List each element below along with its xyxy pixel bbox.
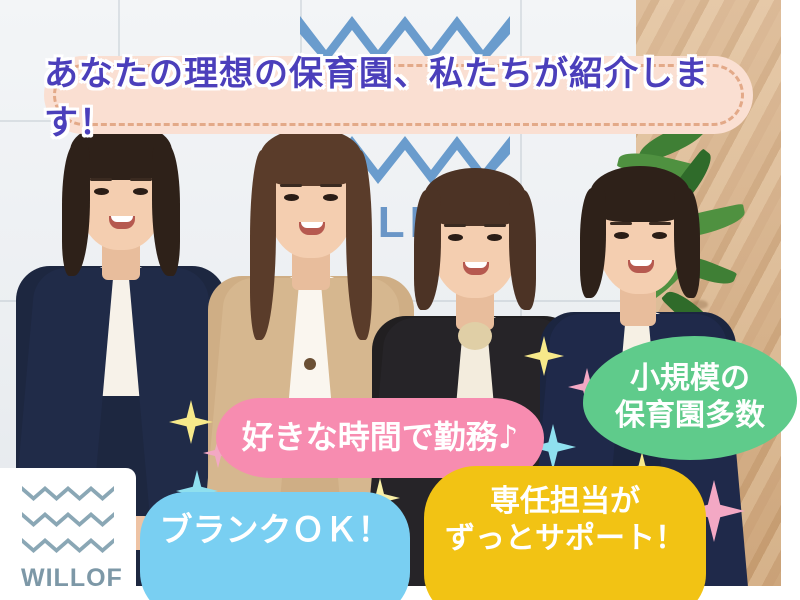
bubble-pink-line1: 好きな時間で勤務♪: [242, 418, 518, 457]
bubble-green-line1: 小規模の: [615, 361, 765, 398]
bubble-dedicated-support: 専任担当が ずっとサポート！: [424, 466, 706, 600]
headline-banner: あなたの理想の保育園、私たちが紹介します！: [44, 56, 753, 134]
zigzag-wave-mark: [22, 538, 114, 553]
bubble-yellow-line1: 専任担当が: [445, 484, 685, 521]
bubble-small-nursery: 小規模の 保育園多数: [583, 336, 797, 460]
zigzag-wave-mark: [22, 512, 114, 527]
bubble-blue-line1: ブランクＯＫ！: [160, 510, 391, 550]
bubble-green-line2: 保育園多数: [615, 398, 765, 435]
zigzag-wave-mark: [22, 486, 114, 501]
bubble-yellow-line2: ずっとサポート！: [445, 521, 685, 558]
headline-text: あなたの理想の保育園、私たちが紹介します！: [44, 56, 753, 134]
bubble-blank-ok: ブランクＯＫ！: [140, 492, 410, 600]
ad-banner-image: WILLOF: [0, 0, 800, 600]
willof-logo: WILLOF: [0, 468, 136, 600]
logo-wordmark: WILLOF: [21, 564, 123, 593]
